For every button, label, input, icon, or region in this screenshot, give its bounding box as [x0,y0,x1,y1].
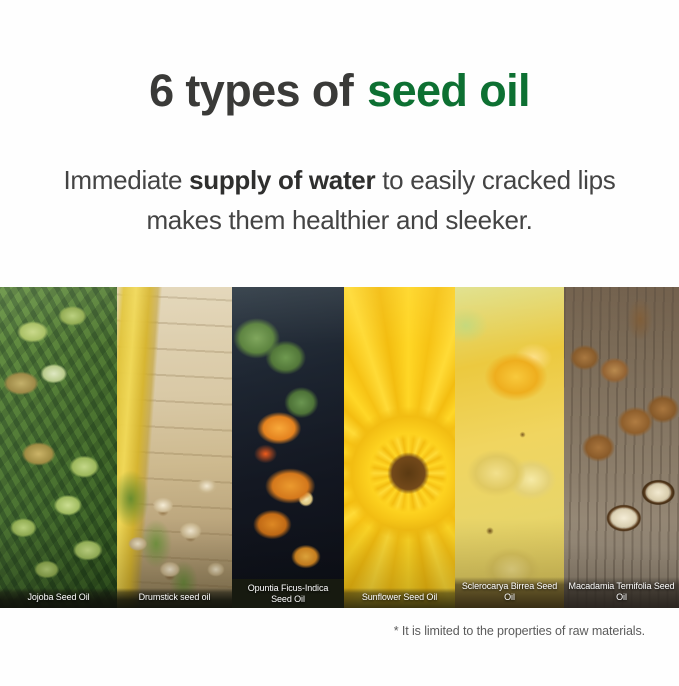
ingredient-label-jojoba: Jojoba Seed Oil [0,588,117,608]
ingredient-label-opuntia: Opuntia Ficus-Indica Seed Oil [232,579,344,608]
ingredient-label-opuntia-line2: Seed Oil [271,594,305,604]
drumstick-photo [117,287,232,608]
opuntia-photo [232,287,344,608]
disclaimer-footnote: * It is limited to the properties of raw… [394,624,645,638]
subtitle-line-2: makes them healthier and sleeker. [0,200,679,240]
sclerocarya-photo [455,287,564,608]
ingredient-panel-sunflower: Sunflower Seed Oil [344,287,455,608]
page-title-prefix: 6 types of [149,65,353,116]
ingredient-label-opuntia-line1: Opuntia Ficus-Indica [248,583,329,593]
ingredient-label-sclerocarya: Sclerocarya Birrea Seed Oil [455,577,564,608]
ingredient-panel-sclerocarya: Sclerocarya Birrea Seed Oil [455,287,564,608]
ingredient-panel-jojoba: Jojoba Seed Oil [0,287,117,608]
ingredient-label-drumstick: Drumstick seed oil [117,588,232,608]
macadamia-photo [564,287,679,608]
page-title-highlight: seed oil [367,65,530,116]
subtitle-text-before-bold: Immediate [63,165,189,195]
ingredient-label-sunflower: Sunflower Seed Oil [344,588,455,608]
subtitle-line-1: Immediate supply of water to easily crac… [0,160,679,200]
ingredient-panel-macadamia: Macadamia Ternifolia Seed Oil [564,287,679,608]
sunflower-photo [344,287,455,608]
page-title: 6 types ofseed oil [0,68,679,113]
ingredient-panel-opuntia: Opuntia Ficus-Indica Seed Oil [232,287,344,608]
subtitle-bold-phrase: supply of water [189,165,375,195]
page-subtitle: Immediate supply of water to easily crac… [0,160,679,240]
infographic-page: 6 types ofseed oil Immediate supply of w… [0,0,679,686]
ingredient-label-macadamia: Macadamia Ternifolia Seed Oil [564,577,679,608]
ingredient-panel-drumstick: Drumstick seed oil [117,287,232,608]
ingredient-photo-strip: Jojoba Seed Oil Drumstick seed oil Opunt… [0,287,679,608]
jojoba-photo [0,287,117,608]
subtitle-text-after-bold: to easily cracked lips [375,165,615,195]
